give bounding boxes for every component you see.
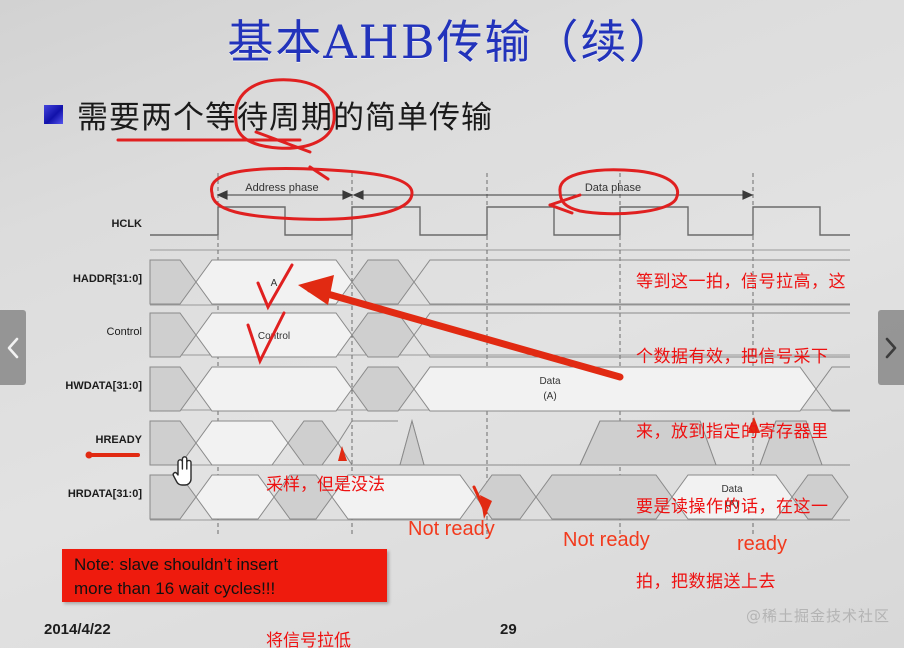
note-box-line2: more than 16 wait cycles!!! <box>74 577 377 601</box>
annotation-not-ready-1: Not ready <box>408 518 495 541</box>
annotation-right-line1: 等到这一拍，信号拉高，这 <box>636 270 846 295</box>
bus-value-haddr: A <box>271 278 278 289</box>
annotation-right-line2: 个数据有效，把信号采下 <box>636 345 846 370</box>
annotation-right: 等到这一拍，信号拉高，这 个数据有效，把信号采下 来，放到指定的寄存器里 要是读… <box>636 220 846 645</box>
hand-cursor-icon <box>170 455 196 487</box>
watermark: @稀土掘金技术社区 <box>746 605 890 626</box>
signal-label-hready: HREADY <box>96 434 143 446</box>
next-slide-button[interactable] <box>878 310 904 385</box>
subtitle-row: 需要两个等待周期的简单传输 <box>44 92 493 137</box>
bus-value-hwdata-line1: Data <box>539 376 561 387</box>
page-title: 基本AHB传输（续） <box>0 6 904 72</box>
annotation-ready-3: ready <box>737 533 787 556</box>
note-box-line1: Note: slave shouldn’t insert <box>74 553 377 577</box>
phase-label-data: Data phase <box>585 182 641 194</box>
slide-canvas: 基本AHB传输（续） 需要两个等待周期的简单传输 <box>0 0 904 648</box>
bullet-square-icon <box>44 105 63 124</box>
chevron-right-icon <box>884 336 898 360</box>
footer-date: 2014/4/22 <box>44 621 111 638</box>
bus-value-hwdata-line2: (A) <box>543 391 556 402</box>
signal-label-hclk: HCLK <box>111 218 142 230</box>
annotation-left-line1: 采样，但是没法 <box>266 472 385 498</box>
chevron-left-icon <box>6 336 20 360</box>
annotation-left: 采样，但是没法 把数据送上去， 将信号拉低 <box>266 420 385 648</box>
annotation-right-line5: 拍，把数据送上去 <box>636 570 846 595</box>
signal-label-control: Control <box>107 326 142 338</box>
annotation-right-line4: 要是读操作的话，在这一 <box>636 495 846 520</box>
signal-label-hwdata: HWDATA[31:0] <box>65 380 142 392</box>
annotation-not-ready-2: Not ready <box>563 529 650 552</box>
annotation-left-line3: 将信号拉低 <box>266 628 385 648</box>
slide-subtitle: 需要两个等待周期的简单传输 <box>77 92 493 137</box>
signal-label-haddr: HADDR[31:0] <box>73 273 142 285</box>
phase-label-address: Address phase <box>245 182 318 194</box>
note-box: Note: slave shouldn’t insert more than 1… <box>62 549 387 602</box>
previous-slide-button[interactable] <box>0 310 26 385</box>
footer-page-number: 29 <box>500 621 517 638</box>
annotation-right-line3: 来，放到指定的寄存器里 <box>636 420 846 445</box>
signal-label-hrdata: HRDATA[31:0] <box>68 488 142 500</box>
